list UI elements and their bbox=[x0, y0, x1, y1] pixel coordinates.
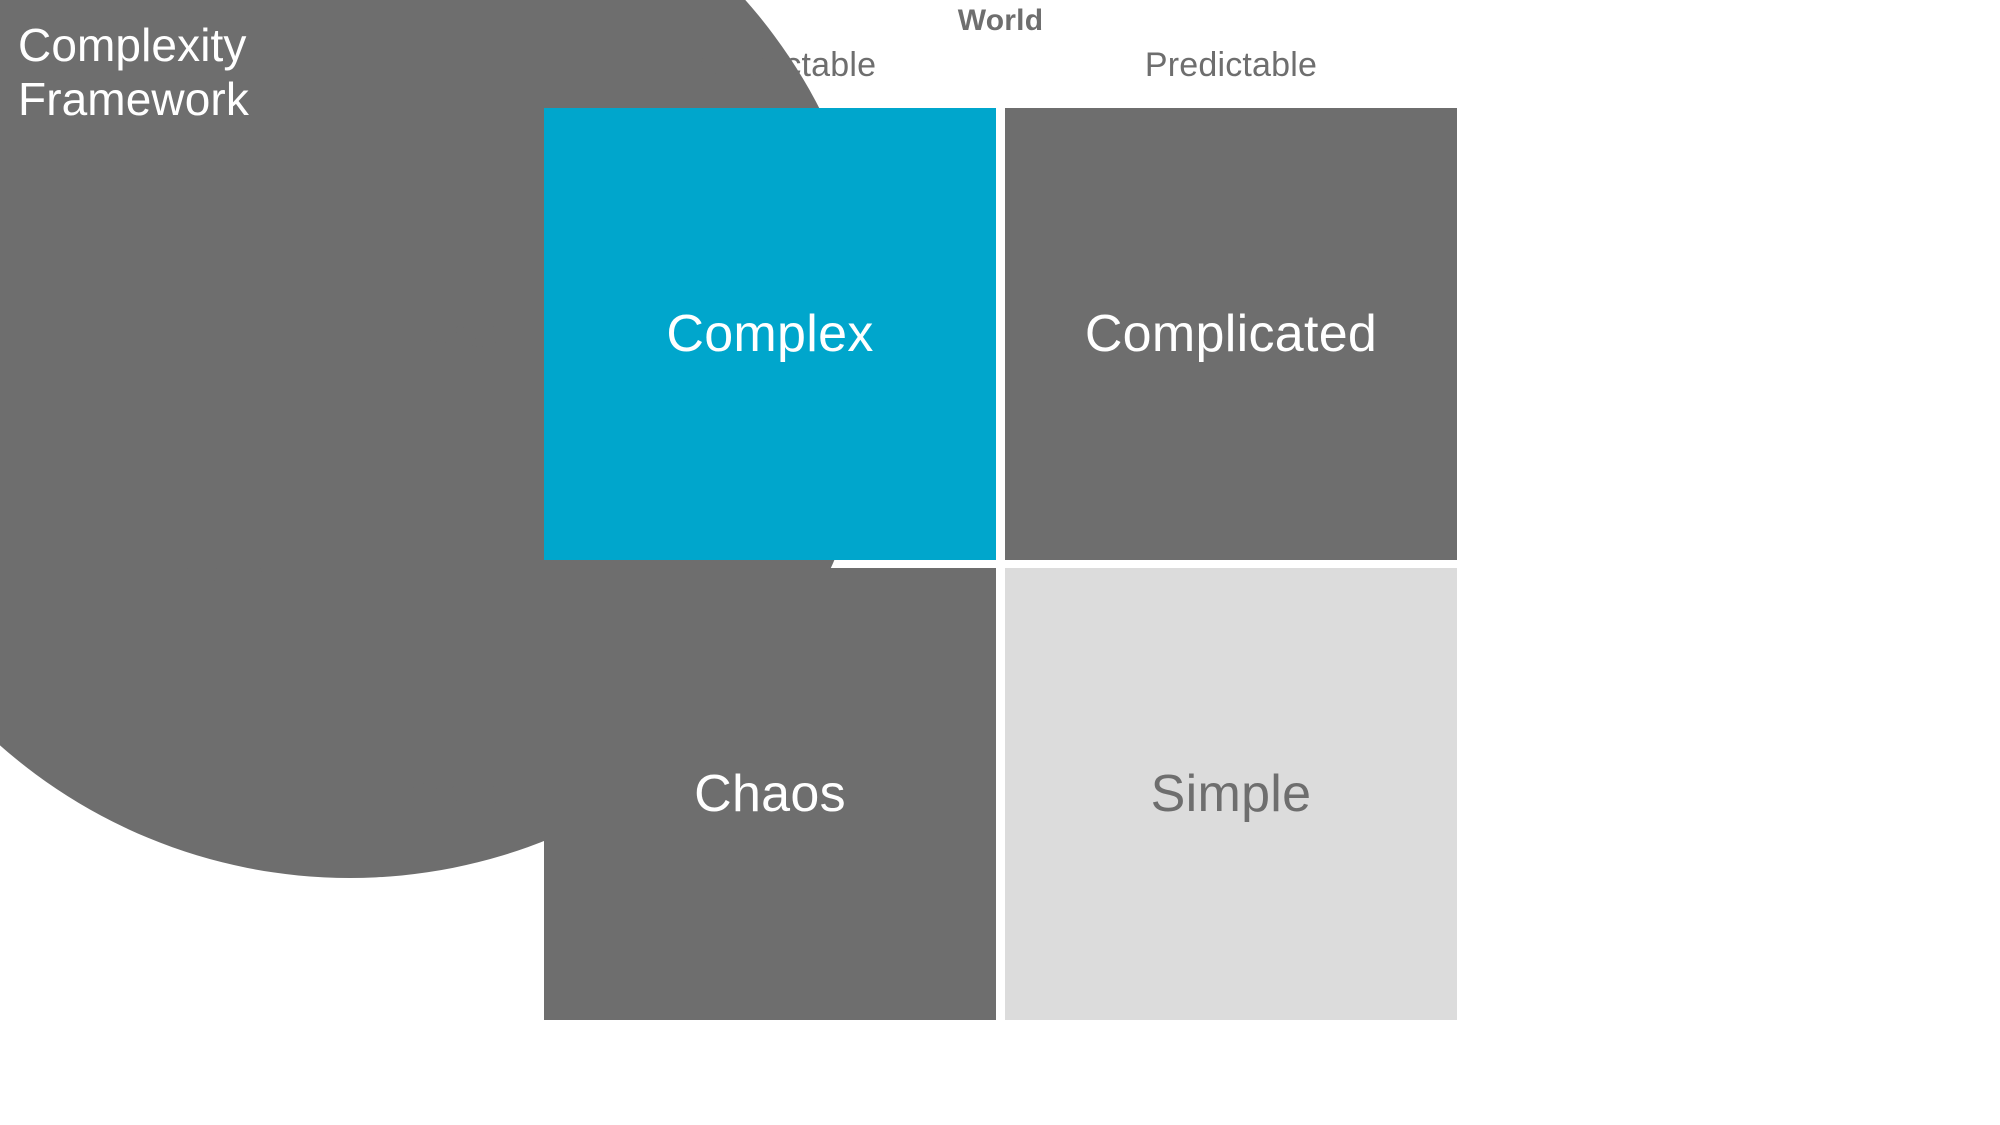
row-header-shorter: Shorter bbox=[407, 773, 520, 812]
axis-top-title: World bbox=[544, 4, 1457, 38]
title-line-2: Framework bbox=[18, 72, 348, 126]
quadrant-chaos[interactable]: Chaos bbox=[544, 568, 996, 1020]
quadrant-label-chaos: Chaos bbox=[694, 764, 846, 824]
title-line-1: Complexity bbox=[18, 18, 348, 72]
column-header-predictable: Predictable bbox=[1005, 46, 1457, 85]
quadrant-simple[interactable]: Simple bbox=[1005, 568, 1457, 1020]
axis-left-title: Timeframe bbox=[110, 555, 263, 589]
quadrant-label-simple: Simple bbox=[1151, 764, 1312, 824]
column-header-unpredictable: Unpredictable bbox=[544, 46, 996, 85]
row-header-longer: Longer bbox=[413, 313, 520, 352]
slide-canvas: Complexity Framework World Unpredictable… bbox=[0, 0, 2000, 1125]
quadrant-complex[interactable]: Complex bbox=[544, 108, 996, 560]
quadrant-label-complicated: Complicated bbox=[1085, 304, 1377, 364]
quadrant-complicated[interactable]: Complicated bbox=[1005, 108, 1457, 560]
quadrant-label-complex: Complex bbox=[666, 304, 873, 364]
title-badge-text: Complexity Framework bbox=[18, 18, 348, 127]
